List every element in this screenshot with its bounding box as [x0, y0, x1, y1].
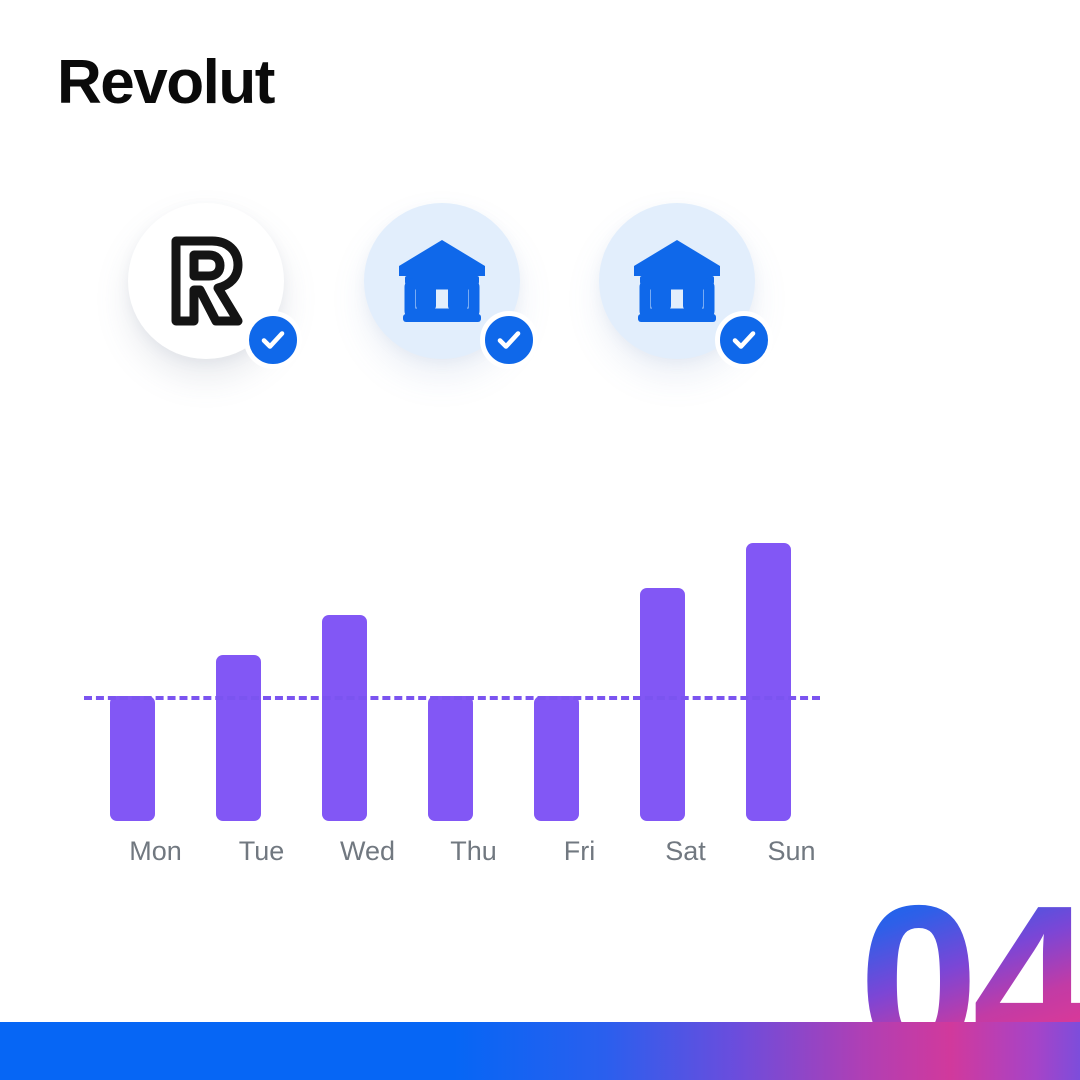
chart-bar[interactable]	[746, 543, 791, 821]
chart-bar[interactable]	[110, 696, 155, 821]
chart-x-label: Tue	[202, 836, 322, 867]
chart-bar[interactable]	[428, 696, 473, 821]
bottom-brand-bar	[0, 1022, 1080, 1080]
weekly-bar-chart: MonTueWedThuFriSatSun	[0, 520, 1080, 880]
chart-x-label: Sat	[626, 836, 746, 867]
account-item[interactable]	[128, 203, 284, 359]
check-icon	[494, 325, 524, 355]
chart-bar[interactable]	[534, 696, 579, 821]
verified-accounts-row	[128, 203, 828, 403]
chart-x-label: Fri	[520, 836, 640, 867]
check-icon	[258, 325, 288, 355]
account-item[interactable]	[599, 203, 755, 359]
check-icon	[729, 325, 759, 355]
verified-badge	[480, 311, 538, 369]
brand-wordmark: Revolut	[57, 52, 274, 114]
chart-bar[interactable]	[322, 615, 367, 821]
chart-plot-area	[84, 520, 824, 821]
chart-x-label: Mon	[96, 836, 216, 867]
chart-x-label: Sun	[732, 836, 852, 867]
revolut-r-icon	[164, 233, 248, 329]
account-item[interactable]	[364, 203, 520, 359]
chart-bar[interactable]	[640, 588, 685, 821]
poster-canvas: Revolut	[0, 0, 1080, 1080]
chart-x-label: Wed	[308, 836, 428, 867]
bank-icon	[397, 238, 487, 324]
chart-bar[interactable]	[216, 655, 261, 821]
chart-x-label: Thu	[414, 836, 534, 867]
average-dashed-line	[84, 696, 820, 700]
verified-badge	[715, 311, 773, 369]
chart-x-axis-labels: MonTueWedThuFriSatSun	[84, 836, 824, 876]
bank-icon	[632, 238, 722, 324]
verified-badge	[244, 311, 302, 369]
